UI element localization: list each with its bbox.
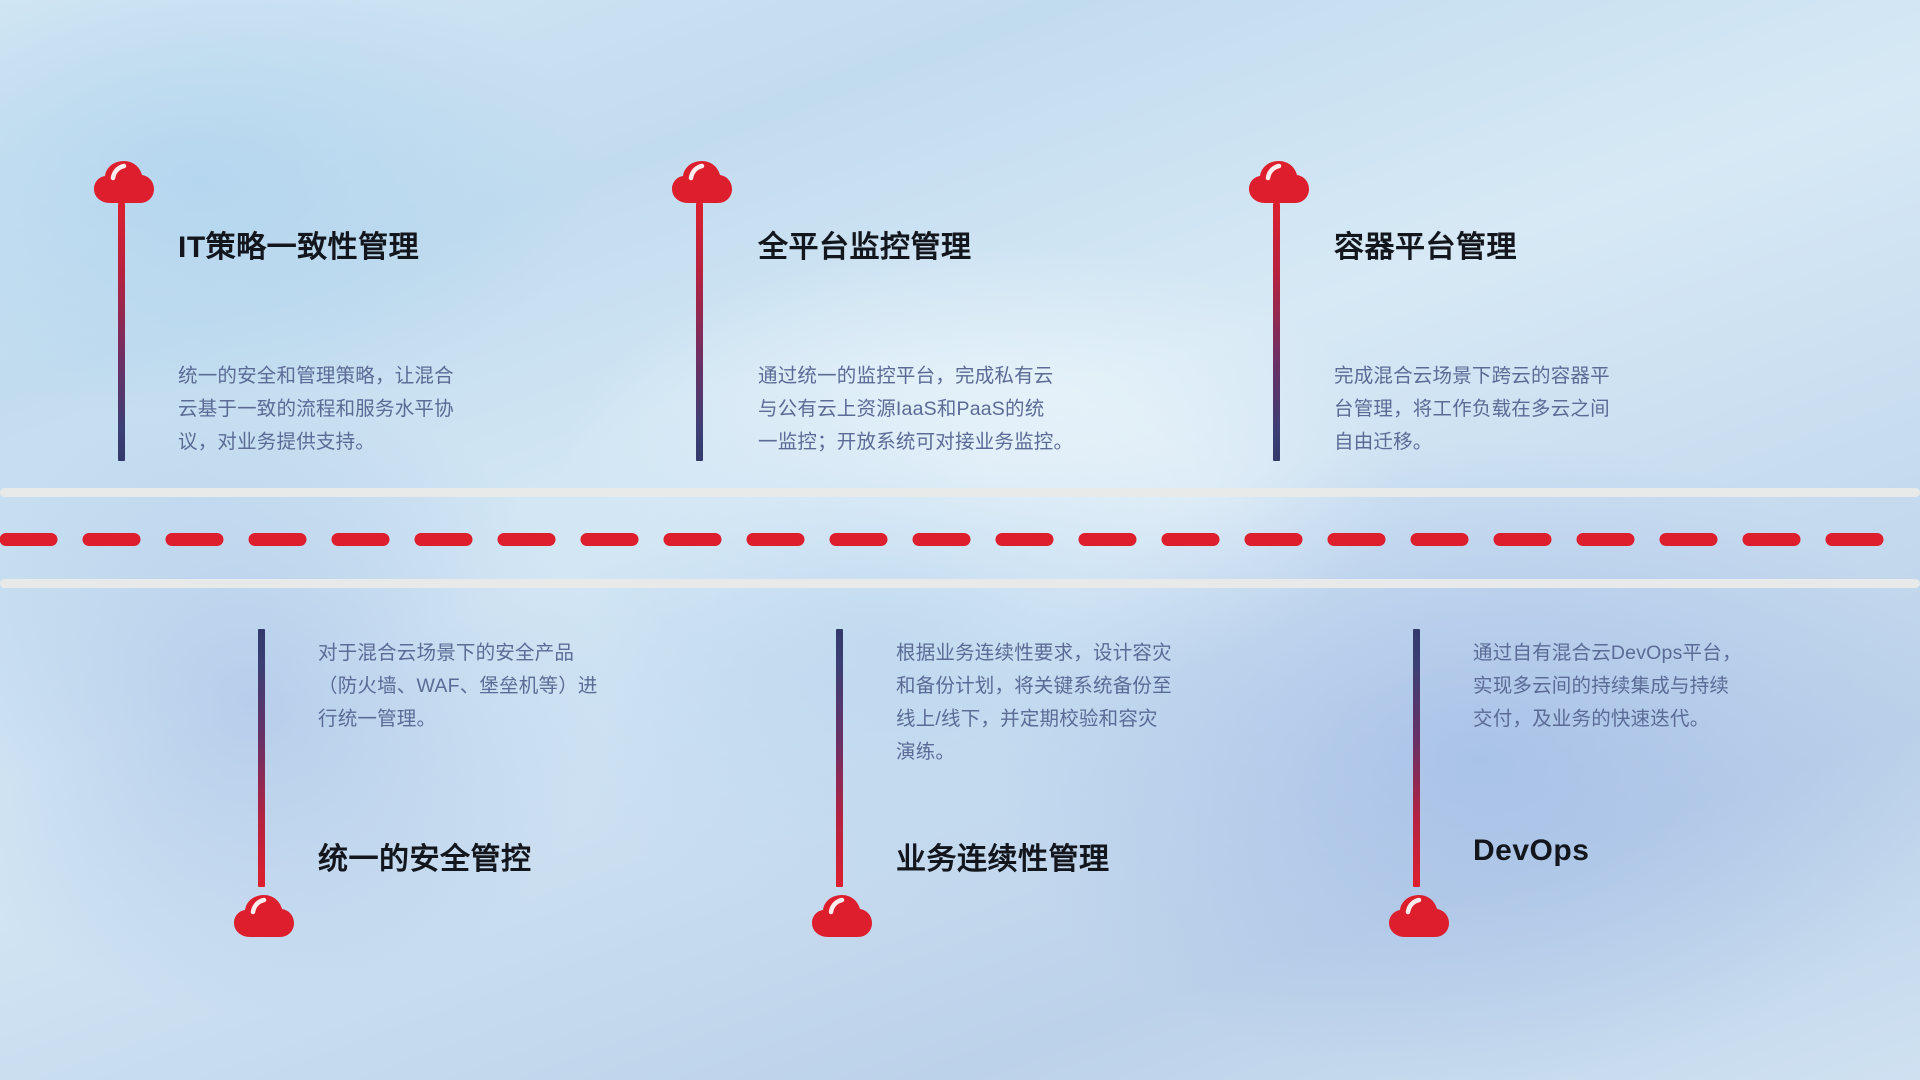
cloud-icon [93,159,155,205]
connector-line [1413,629,1420,887]
description-line: 实现多云间的持续集成与持续 [1473,670,1833,703]
connector-line [836,629,843,887]
description-line: 通过统一的监控平台，完成私有云 [758,360,1138,393]
section-description: 完成混合云场景下跨云的容器平 台管理，将工作负载在多云之间 自由迁移。 [1334,360,1694,459]
description-line: 议，对业务提供支持。 [178,426,538,459]
description-line: 交付，及业务的快速迭代。 [1473,703,1833,736]
description-line: 台管理，将工作负载在多云之间 [1334,393,1694,426]
description-line: （防火墙、WAF、堡垒机等）进 [318,670,678,703]
description-line: 和备份计划，将关键系统备份至 [896,670,1256,703]
section-description: 根据业务连续性要求，设计容灾 和备份计划，将关键系统备份至 线上/线下，并定期校… [896,637,1256,769]
section-title: 统一的安全管控 [318,834,532,878]
description-line: 演练。 [896,736,1256,769]
section-title: DevOps [1473,834,1589,868]
section-description: 统一的安全和管理策略，让混合 云基于一致的流程和服务水平协 议，对业务提供支持。 [178,360,538,459]
infographic-canvas: IT策略一致性管理 统一的安全和管理策略，让混合 云基于一致的流程和服务水平协 … [0,0,1920,1080]
connector-line [696,203,703,461]
section-title: 业务连续性管理 [896,834,1110,878]
description-line: 通过自有混合云DevOps平台， [1473,637,1833,670]
description-line: 与公有云上资源IaaS和PaaS的统 [758,393,1138,426]
cloud-icon [811,893,873,939]
description-line: 行统一管理。 [318,703,678,736]
divider-rule-bottom [0,579,1920,588]
divider-dashed-line [0,533,1920,546]
section-title: 全平台监控管理 [758,222,972,266]
cloud-icon [671,159,733,205]
connector-line [118,203,125,461]
section-title: 容器平台管理 [1334,222,1517,266]
description-line: 自由迁移。 [1334,426,1694,459]
cloud-icon [1248,159,1310,205]
description-line: 统一的安全和管理策略，让混合 [178,360,538,393]
section-description: 对于混合云场景下的安全产品 （防火墙、WAF、堡垒机等）进 行统一管理。 [318,637,678,736]
section-description: 通过自有混合云DevOps平台， 实现多云间的持续集成与持续 交付，及业务的快速… [1473,637,1833,736]
connector-line [258,629,265,887]
description-line: 对于混合云场景下的安全产品 [318,637,678,670]
description-line: 根据业务连续性要求，设计容灾 [896,637,1256,670]
cloud-icon [233,893,295,939]
connector-line [1273,203,1280,461]
description-line: 一监控；开放系统可对接业务监控。 [758,426,1138,459]
description-line: 云基于一致的流程和服务水平协 [178,393,538,426]
divider-rule-top [0,488,1920,497]
description-line: 线上/线下，并定期校验和容灾 [896,703,1256,736]
section-title: IT策略一致性管理 [178,222,419,266]
description-line: 完成混合云场景下跨云的容器平 [1334,360,1694,393]
section-description: 通过统一的监控平台，完成私有云 与公有云上资源IaaS和PaaS的统 一监控；开… [758,360,1138,459]
cloud-icon [1388,893,1450,939]
